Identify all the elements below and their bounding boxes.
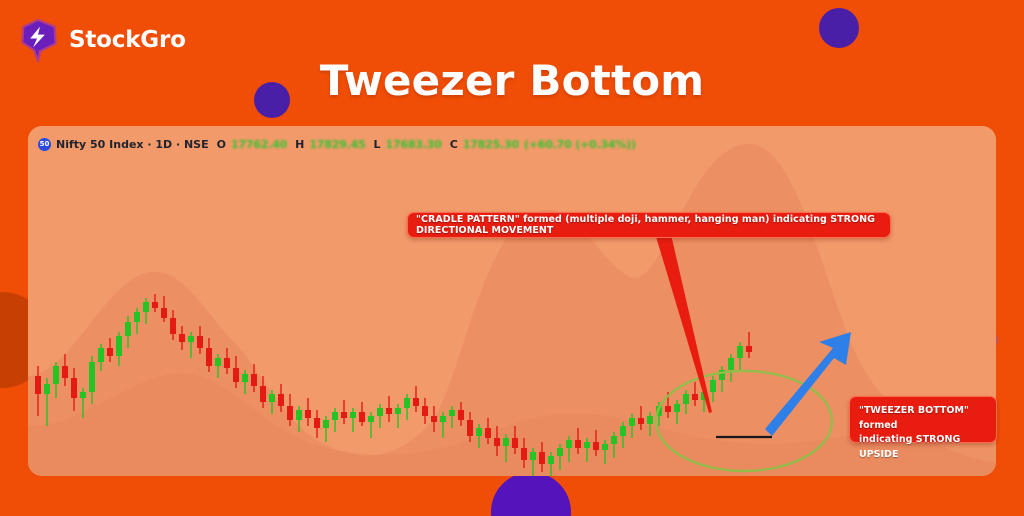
candle-body <box>260 386 266 402</box>
candle-body <box>548 456 554 464</box>
candle-body <box>710 380 716 392</box>
candle-body <box>503 438 509 446</box>
candle-body <box>413 398 419 406</box>
candle-body <box>692 394 698 400</box>
candle-body <box>647 416 653 424</box>
candle-body <box>485 428 491 438</box>
poster-canvas: StockGro Tweezer Bottom 50 Nifty 50 Inde… <box>0 0 1024 516</box>
cradle-pattern-callout-text: "CRADLE PATTERN" formed (multiple doji, … <box>416 214 882 236</box>
candle-body <box>440 416 446 422</box>
candle-body <box>728 358 734 370</box>
candle-body <box>269 394 275 402</box>
cradle-pattern-callout[interactable]: "CRADLE PATTERN" formed (multiple doji, … <box>407 212 891 238</box>
candle-body <box>287 406 293 420</box>
candle-body <box>332 412 338 420</box>
candle-body <box>323 420 329 428</box>
candle-body <box>89 362 95 392</box>
candle-body <box>35 376 41 394</box>
candle-body <box>476 428 482 436</box>
candle-body <box>539 452 545 464</box>
candle-body <box>341 412 347 418</box>
candle-body <box>278 394 284 406</box>
candle-body <box>530 452 536 460</box>
candle-body <box>404 398 410 408</box>
candle-body <box>314 418 320 428</box>
candle-body <box>638 418 644 424</box>
candle-body <box>683 394 689 404</box>
candle-body <box>224 358 230 368</box>
candle-body <box>116 336 122 356</box>
candle-body <box>377 408 383 416</box>
candle-body <box>584 442 590 448</box>
brand-wordmark: StockGro <box>69 29 186 52</box>
candle-body <box>188 336 194 342</box>
candle-body <box>134 312 140 322</box>
candle-body <box>449 410 455 416</box>
candle-body <box>107 348 113 356</box>
candle-body <box>512 438 518 448</box>
candle-body <box>557 448 563 456</box>
candle-body <box>125 322 131 336</box>
candle-body <box>458 410 464 420</box>
candle-body <box>575 440 581 448</box>
candle-body <box>206 348 212 366</box>
candle-body <box>152 302 158 308</box>
candle-body <box>746 346 752 352</box>
candle-body <box>197 336 203 348</box>
candle-body <box>242 374 248 382</box>
candle-body <box>521 448 527 460</box>
candle-body <box>665 406 671 412</box>
candle-body <box>296 410 302 420</box>
candle-body <box>143 302 149 312</box>
candle-body <box>71 378 77 398</box>
candle-body <box>386 408 392 414</box>
candle-body <box>251 374 257 386</box>
candle-body <box>593 442 599 450</box>
tweezer-bottom-callout[interactable]: "TWEEZER BOTTOM" formed indicating STRON… <box>849 396 997 443</box>
candle-body <box>98 348 104 362</box>
candle-body <box>170 318 176 334</box>
candle-body <box>620 426 626 436</box>
candle-body <box>62 366 68 378</box>
candle-body <box>305 410 311 418</box>
tweezer-callout-line2: indicating STRONG UPSIDE <box>859 433 987 462</box>
page-title: Tweezer Bottom <box>0 56 1024 105</box>
candle-body <box>80 392 86 398</box>
candle-body <box>629 418 635 426</box>
candle-body <box>566 440 572 448</box>
candle-body <box>674 404 680 412</box>
candle-body <box>737 346 743 358</box>
candle-body <box>359 412 365 422</box>
candle-body <box>350 412 356 418</box>
candle-body <box>431 416 437 422</box>
candle-body <box>233 368 239 382</box>
candle-body <box>53 366 59 384</box>
candle-body <box>215 358 221 366</box>
candle-body <box>602 444 608 450</box>
candle-body <box>368 416 374 422</box>
tweezer-callout-line1: "TWEEZER BOTTOM" formed <box>859 405 969 431</box>
candle-body <box>611 436 617 444</box>
candle-body <box>422 406 428 416</box>
candle-body <box>395 408 401 414</box>
candle-body <box>161 308 167 318</box>
candle-series <box>35 294 752 476</box>
candle-body <box>179 334 185 342</box>
candle-body <box>494 438 500 446</box>
blue-up-arrow <box>765 332 851 436</box>
candle-body <box>44 384 50 394</box>
purple-circle-top-right <box>819 8 859 48</box>
candle-body <box>467 420 473 436</box>
